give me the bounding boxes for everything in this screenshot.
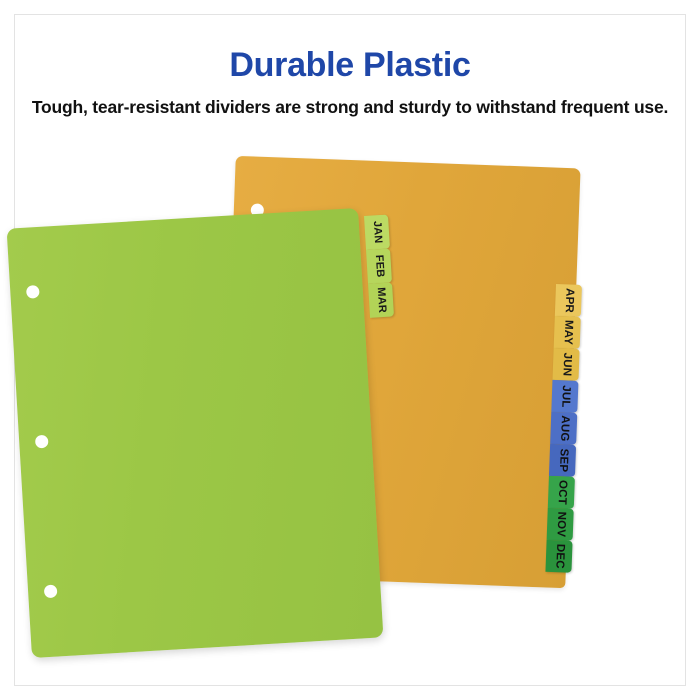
month-tab-label: SEP — [556, 448, 568, 472]
month-tab-label: JUN — [560, 352, 572, 376]
month-tab-label: MAY — [561, 320, 573, 346]
month-tab-aug[interactable]: AUG — [550, 412, 577, 445]
month-tab-label: FEB — [373, 255, 385, 278]
month-tab-label: JUL — [559, 385, 571, 408]
promo-text-block: Durable Plastic Tough, tear-resistant di… — [0, 44, 700, 119]
month-tab-label: NOV — [554, 511, 566, 537]
headline: Durable Plastic — [0, 44, 700, 86]
month-tab-mar[interactable]: MAR — [368, 282, 394, 317]
month-tab-label: DEC — [553, 544, 565, 569]
month-tab-label: AUG — [557, 415, 569, 442]
month-tab-jun[interactable]: JUN — [552, 348, 579, 381]
month-tab-oct[interactable]: OCT — [548, 476, 575, 509]
subheadline: Tough, tear-resistant dividers are stron… — [0, 95, 700, 119]
month-tab-jul[interactable]: JUL — [551, 380, 578, 413]
month-tab-dec[interactable]: DEC — [545, 540, 572, 573]
punch-hole — [35, 435, 49, 449]
month-tab-label: MAR — [375, 287, 388, 313]
month-tab-apr[interactable]: APR — [555, 284, 582, 317]
month-tab-label: APR — [562, 288, 574, 313]
month-tab-label: JAN — [371, 221, 383, 244]
punch-hole — [44, 584, 58, 598]
product-image-card: Durable Plastic Tough, tear-resistant di… — [0, 0, 700, 700]
month-tab-sep[interactable]: SEP — [549, 444, 576, 477]
punch-hole — [26, 285, 40, 299]
month-tab-may[interactable]: MAY — [554, 316, 581, 349]
month-tab-label: OCT — [555, 480, 567, 505]
green-divider — [7, 208, 384, 658]
month-tab-nov[interactable]: NOV — [547, 508, 574, 541]
month-tab-feb[interactable]: FEB — [366, 249, 392, 284]
month-tab-jan[interactable]: JAN — [364, 215, 390, 250]
product-photo: APRMAYJUNJULAUGSEPOCTNOVDEC JANFEBMAR — [0, 150, 700, 670]
